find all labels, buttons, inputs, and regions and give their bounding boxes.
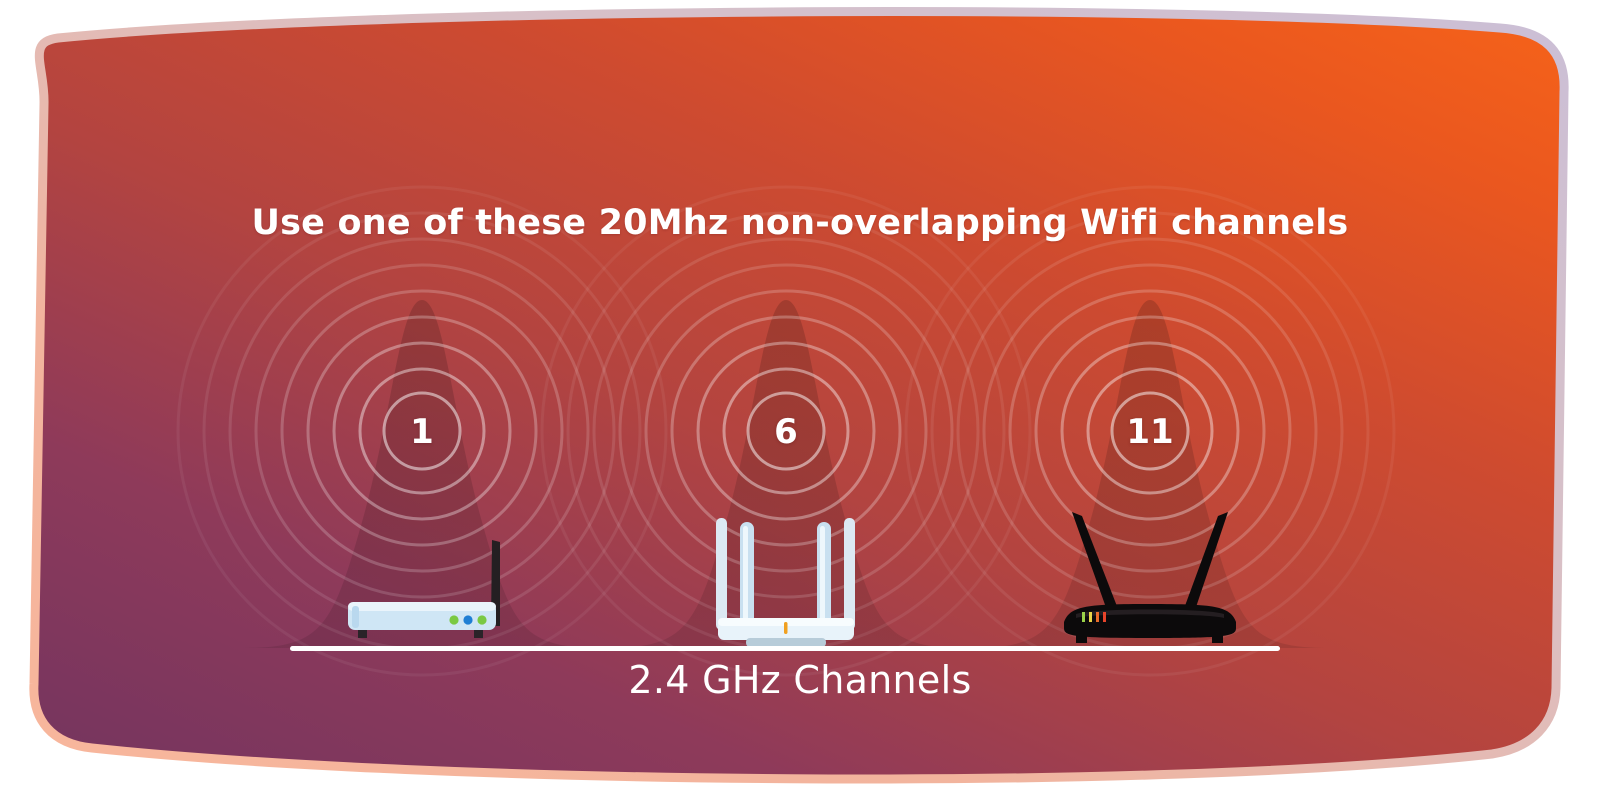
router-led [449, 615, 458, 624]
router-antenna-highlight [820, 526, 825, 626]
baseline-axis [290, 646, 1280, 651]
infographic-card: Use one of these 20Mhz non-overlapping W… [0, 0, 1600, 803]
router-body-top-highlight [348, 602, 496, 611]
router-body-left-edge [352, 606, 359, 628]
router-led [477, 615, 486, 624]
router-antenna [716, 518, 727, 630]
router-led [463, 615, 472, 624]
router-base [746, 638, 826, 647]
router-led [1096, 612, 1099, 622]
router-led [1089, 612, 1092, 622]
router-led [784, 622, 788, 634]
router-led [1103, 612, 1106, 622]
router-led [1082, 612, 1085, 622]
card-canvas [0, 0, 1600, 803]
router-antenna [844, 518, 855, 630]
router-antenna-highlight [743, 526, 748, 626]
